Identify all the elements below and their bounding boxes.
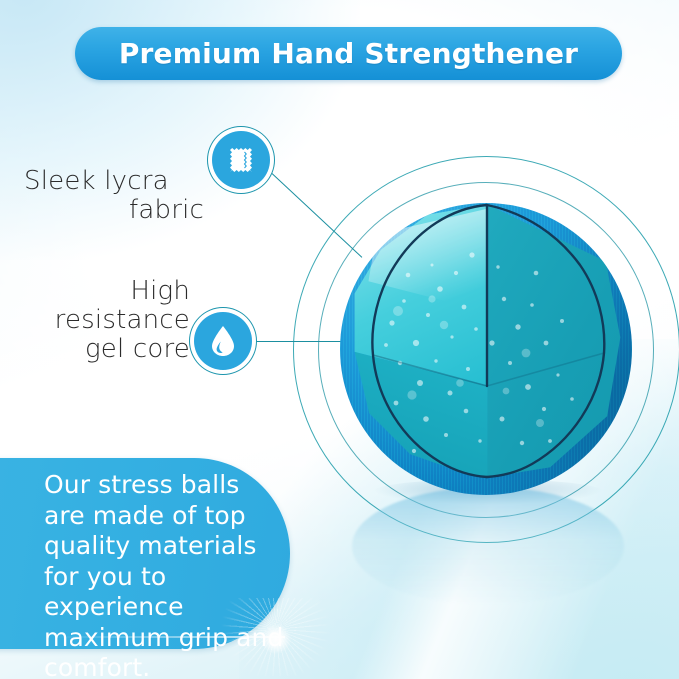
product-infographic: Premium Hand Strengthener Sleek lycra fa… [0, 0, 679, 679]
title-banner: Premium Hand Strengthener [75, 27, 622, 80]
fabric-swatch-icon [226, 145, 256, 175]
water-drop-icon [208, 324, 238, 358]
ball-lycra-shell [340, 203, 632, 495]
feature-label-fabric-line2: fabric [24, 196, 204, 225]
feature-label-fabric: Sleek lycra fabric [24, 138, 204, 254]
ball-reflection [352, 487, 624, 605]
blurb-text: Our stress balls are made of top quality… [44, 470, 306, 679]
stress-ball-cutaway [340, 203, 632, 495]
fabric-swatch-icon-badge [212, 131, 270, 189]
page-title: Premium Hand Strengthener [119, 37, 578, 70]
feature-label-fabric-line1: Sleek lycra [24, 166, 169, 196]
water-drop-icon-badge [194, 312, 252, 370]
feature-label-gel: High resistance gel core [30, 277, 190, 364]
